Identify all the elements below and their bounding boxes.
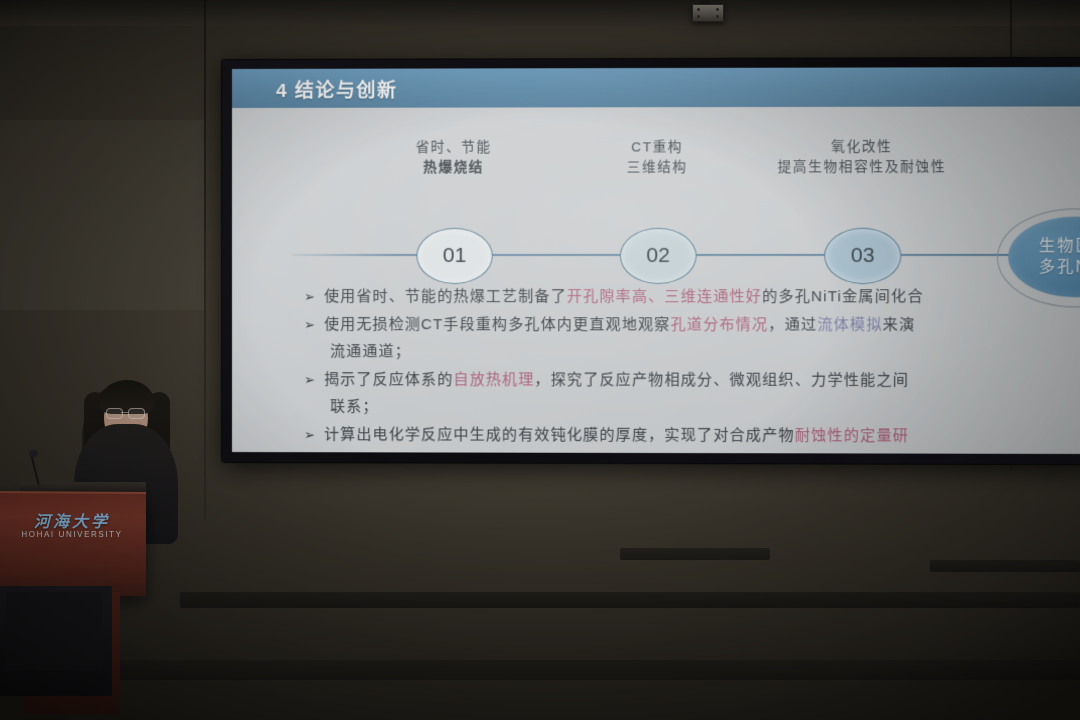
bullet-text-segment: 来演 — [883, 316, 916, 333]
bullet-text-segment: 流体模拟 — [817, 316, 882, 333]
podium — [0, 491, 146, 597]
bullet-text-segment: 耐蚀性的定量研 — [795, 427, 909, 444]
slide-bullet-line: ➢使用省时、节能的热爆工艺制备了开孔隙率高、三维连通性好的多孔NiTi金属间化合 — [304, 283, 1080, 311]
slide-bullet-line: ➢计算出电化学反应中生成的有效钝化膜的厚度，实现了对合成产物耐蚀性的定量研 — [304, 421, 1080, 450]
projection-screen: 4 结论与创新 省时、节能 热爆烧结 CT重构 三维结构 氧化改性 提高生物相容… — [222, 58, 1080, 464]
desk-row-back — [180, 592, 1080, 608]
podium-monitor-screen — [6, 592, 102, 670]
bullet-text-segment: 使用省时、节能的热爆工艺制备了 — [324, 288, 567, 305]
podium-monitor — [0, 586, 112, 696]
podium-university-logo-en: HOHAI UNIVERSITY — [16, 530, 128, 539]
timeline-node-02-number: 02 — [646, 244, 670, 268]
podium-university-logo-cn: 河海大学 — [20, 508, 124, 532]
timeline-node-03: 03 — [824, 228, 901, 284]
bullet-arrow-icon: ➢ — [304, 283, 324, 311]
ceiling-band — [0, 0, 1080, 26]
presenter-glasses — [106, 408, 146, 417]
timeline-caption-1: 省时、节能 热爆烧结 — [416, 138, 492, 179]
bullet-text-segment: 流通通道； — [330, 343, 411, 360]
bullet-text-segment: 计算出电化学反应中生成的有效钝化膜的厚度，实现了对合成产物 — [324, 426, 795, 444]
timeline-node-02: 02 — [620, 228, 697, 284]
slide-bullet-line: 联系； — [304, 393, 1080, 422]
bullet-text-segment: 孔道分布情况 — [671, 316, 769, 333]
timeline-diagram: 省时、节能 热爆烧结 CT重构 三维结构 氧化改性 提高生物相容性及耐蚀性 01… — [232, 106, 1080, 283]
bullet-text-segment: 的多孔NiTi金属间化合 — [762, 288, 924, 305]
slide-title: 4 结论与创新 — [276, 76, 398, 103]
desk-row-front — [0, 660, 1080, 680]
slide-bullet-line: ➢使用无损检测CT手段重构多孔体内更直观地观察孔道分布情况，通过流体模拟来演 — [304, 311, 1080, 339]
slide-bullet-list: ➢使用省时、节能的热爆工艺制备了开孔隙率高、三维连通性好的多孔NiTi金属间化合… — [304, 283, 1080, 450]
timeline-node-01: 01 — [416, 228, 492, 284]
bullet-text-segment: ，通过 — [768, 316, 817, 333]
lecture-hall-photo: 4 结论与创新 省时、节能 热爆烧结 CT重构 三维结构 氧化改性 提高生物相容… — [0, 0, 1080, 720]
bullet-text-segment: 使用无损检测CT手段重构多孔体内更直观地观察 — [324, 316, 670, 333]
microphone-icon — [29, 450, 38, 457]
desk-row-mid-2 — [930, 560, 1080, 572]
timeline-node-01-number: 01 — [443, 244, 466, 268]
bullet-text-segment: ，探究了反应产物相成分、微观组织、力学性能之间 — [534, 371, 909, 389]
wall-seam-left — [204, 0, 206, 520]
timeline-result-line2: 多孔NiTi — [1039, 257, 1080, 278]
bullet-text-segment: 揭示了反应体系的 — [324, 371, 453, 388]
bullet-arrow-icon: ➢ — [304, 421, 324, 449]
timeline-result-line1: 生物医用 — [1039, 236, 1080, 257]
projector-mount-bracket — [692, 4, 724, 22]
timeline-node-03-number: 03 — [851, 244, 875, 268]
timeline-caption-2: CT重构 三维结构 — [627, 137, 688, 178]
presentation-slide: 4 结论与创新 省时、节能 热爆烧结 CT重构 三维结构 氧化改性 提高生物相容… — [232, 67, 1080, 454]
bullet-arrow-icon: ➢ — [304, 366, 324, 394]
bullet-text-segment: 自放热机理 — [453, 371, 534, 388]
bullet-arrow-icon: ➢ — [304, 311, 324, 339]
bullet-text-segment: 开孔隙率高、三维连通性好 — [567, 288, 762, 305]
slide-bullet-line: 流通通道； — [304, 338, 1080, 367]
timeline-caption-3: 氧化改性 提高生物相容性及耐蚀性 — [778, 137, 947, 178]
desk-row-mid — [620, 548, 770, 560]
bullet-text-segment: 联系； — [330, 398, 378, 415]
slide-bullet-line: ➢揭示了反应体系的自放热机理，探究了反应产物相成分、微观组织、力学性能之间 — [304, 366, 1080, 395]
